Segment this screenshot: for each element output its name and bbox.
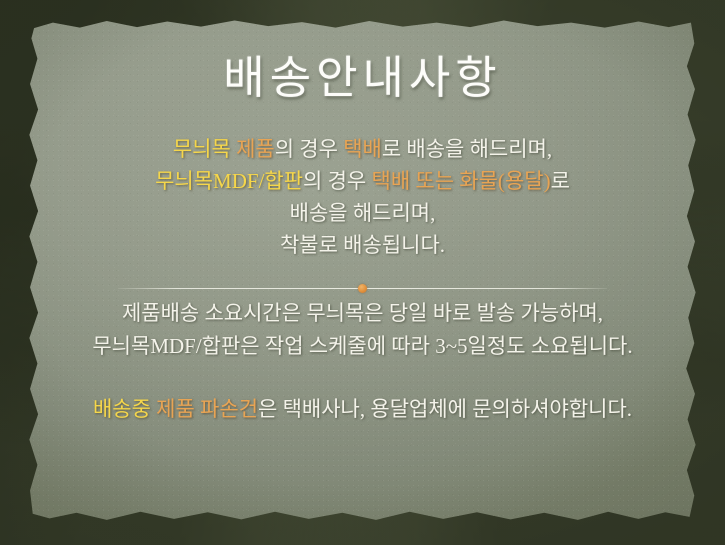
damage-claim-seg-2: 제품 파손건 [156,397,258,421]
damage-claim-seg-1: 배송중 [93,397,156,421]
slide-content: 배송안내사항 무늬목 제품의 경우 택배로 배송을 해드리며, 무늬목MDF/합… [0,0,725,545]
shipping-method-block: 무늬목 제품의 경우 택배로 배송을 해드리며, 무늬목MDF/합판의 경우 택… [0,139,725,256]
shipping-line-2-seg-3: 택배 또는 화물(용달) [372,169,551,193]
lead-time-line-1: 제품배송 소요시간은 무늬목은 당일 바로 발송 가능하며, [0,303,725,324]
shipping-line-4: 착불로 배송됩니다. [0,235,725,256]
divider-dot-icon [358,284,367,293]
shipping-line-1: 무늬목 제품의 경우 택배로 배송을 해드리며, [0,139,725,160]
shipping-line-2-seg-1: 무늬목MDF/합판 [155,169,303,193]
lead-time-line-2: 무늬목MDF/합판은 작업 스케줄에 따라 3~5일정도 소요됩니다. [0,336,725,357]
shipping-line-1-seg-1: 무늬목 [173,137,236,161]
shipping-line-1-seg-4: 택배 [343,137,382,161]
shipping-line-2-seg-2: 의 경우 [303,169,371,193]
damage-claim-block: 배송중 제품 파손건은 택배사나, 용달업체에 문의하셔야합니다. [0,399,725,420]
slide-canvas: 배송안내사항 무늬목 제품의 경우 택배로 배송을 해드리며, 무늬목MDF/합… [0,0,725,545]
page-title: 배송안내사항 [0,55,725,102]
damage-claim-line-1: 배송중 제품 파손건은 택배사나, 용달업체에 문의하셔야합니다. [0,399,725,420]
lead-time-block: 제품배송 소요시간은 무늬목은 당일 바로 발송 가능하며, 무늬목MDF/합판… [0,303,725,357]
shipping-line-1-seg-3: 의 경우 [275,137,343,161]
shipping-line-2: 무늬목MDF/합판의 경우 택배 또는 화물(용달)로 [0,171,725,192]
section-divider [118,284,607,294]
damage-claim-seg-3: 은 택배사나, 용달업체에 문의하셔야합니다. [258,397,632,421]
shipping-line-1-seg-2: 제품 [236,137,275,161]
shipping-line-3: 배송을 해드리며, [0,203,725,224]
shipping-line-2-seg-4: 로 [551,169,570,193]
shipping-line-1-seg-5: 로 배송을 해드리며, [382,137,552,161]
